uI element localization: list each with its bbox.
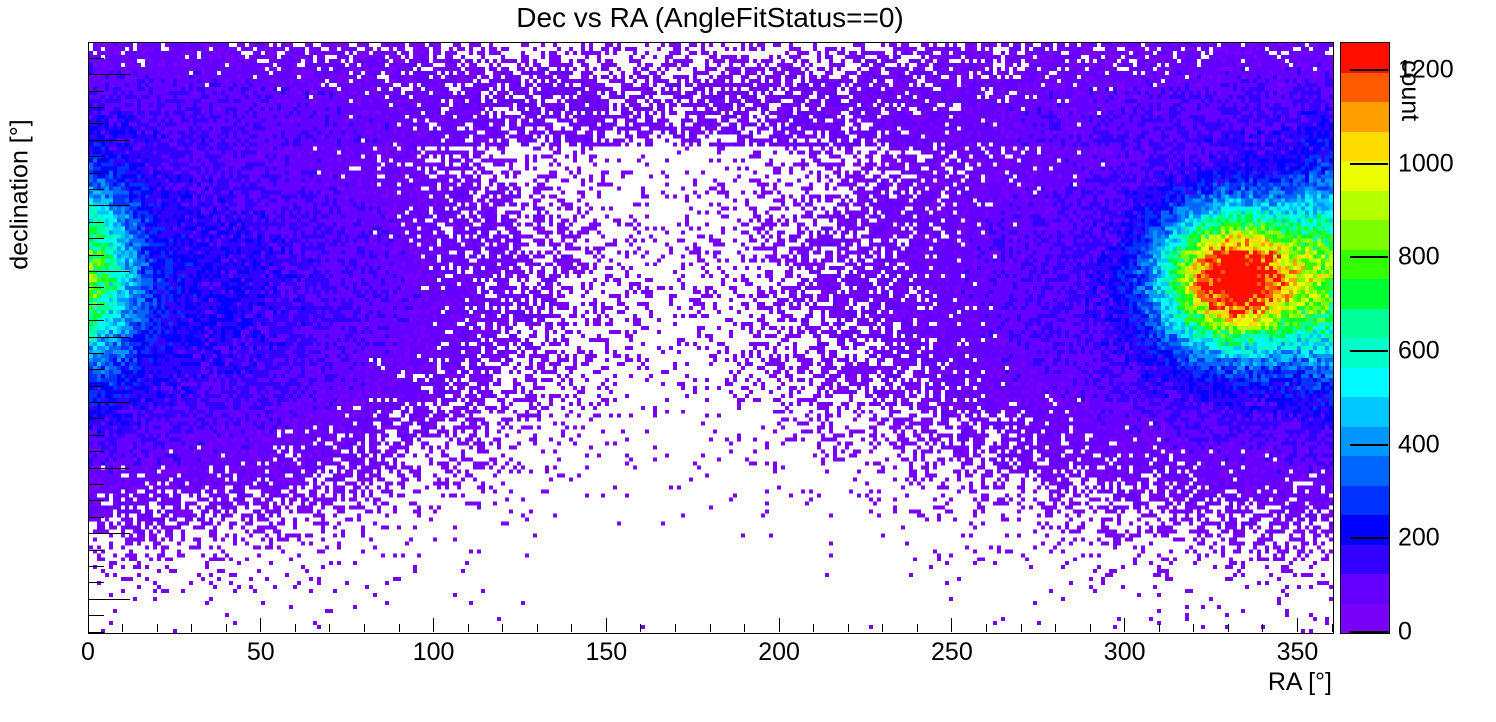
x-tick-label: 300 [1104,638,1146,667]
palette-tick-label: 800 [1398,243,1440,272]
x-tick-label: 200 [758,638,800,667]
z-axis-title: count [1395,60,1424,121]
histogram-frame[interactable] [88,42,1334,634]
palette-tick-label: 400 [1398,430,1440,459]
root-canvas: Dec vs RA (AngleFitStatus==0) 0501001502… [0,0,1496,722]
x-tick-label: 250 [931,638,973,667]
color-palette-bar[interactable] [1340,42,1390,634]
x-tick-label: 50 [247,638,275,667]
palette-tick-label: 600 [1398,337,1440,366]
x-tick-label: 0 [81,638,95,667]
x-tick-label: 100 [413,638,455,667]
y-axis-title: declination [°] [6,95,35,295]
x-tick-label: 150 [585,638,627,667]
palette-canvas [1341,43,1389,633]
heatmap-canvas [89,43,1333,633]
x-tick-label: 350 [1277,638,1319,667]
x-axis-title: RA [°] [1268,668,1332,697]
palette-tick-label: 1000 [1398,149,1454,178]
palette-tick-label: 0 [1398,618,1412,647]
page-title: Dec vs RA (AngleFitStatus==0) [0,2,1420,34]
palette-tick-label: 200 [1398,524,1440,553]
